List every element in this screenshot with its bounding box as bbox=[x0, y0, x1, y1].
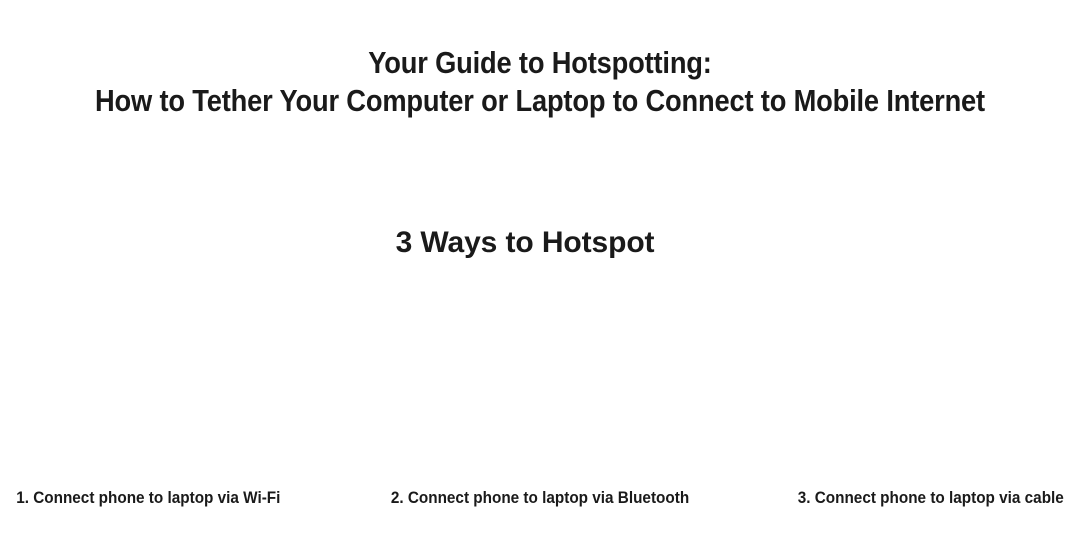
figure-caption-3: 3. Connect phone to laptop via cable bbox=[751, 486, 1080, 510]
figure-caption-1: 1. Connect phone to laptop via Wi-Fi bbox=[0, 486, 329, 510]
page-title: Your Guide to Hotspotting: How to Tether… bbox=[0, 44, 1080, 120]
caption-row: 1. Connect phone to laptop via Wi-Fi 2. … bbox=[0, 486, 1080, 516]
figure-slot-1 bbox=[0, 288, 360, 476]
figure-image-cable bbox=[720, 288, 1080, 476]
section-subtitle: 3 Ways to Hotspot bbox=[0, 224, 1080, 262]
figure-slot-2 bbox=[360, 288, 720, 476]
figure-caption-2: 2. Connect phone to laptop via Bluetooth bbox=[383, 486, 696, 510]
title-line-2: How to Tether Your Computer or Laptop to… bbox=[65, 82, 1015, 120]
document-page: Your Guide to Hotspotting: How to Tether… bbox=[0, 0, 1080, 552]
figure-image-wifi bbox=[0, 288, 360, 476]
figure-slot-3 bbox=[720, 288, 1080, 476]
title-line-1: Your Guide to Hotspotting: bbox=[65, 44, 1015, 82]
figure-row bbox=[0, 288, 1080, 476]
figure-image-bluetooth bbox=[360, 288, 720, 476]
